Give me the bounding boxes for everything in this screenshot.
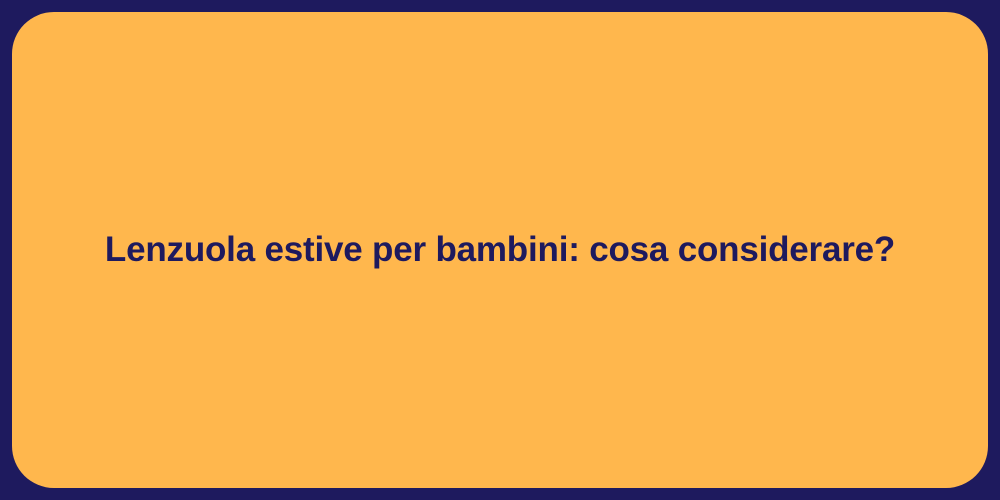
banner-title: Lenzuola estive per bambini: cosa consid… — [105, 228, 895, 272]
banner-frame: Lenzuola estive per bambini: cosa consid… — [0, 0, 1000, 500]
banner-card: Lenzuola estive per bambini: cosa consid… — [12, 12, 988, 488]
